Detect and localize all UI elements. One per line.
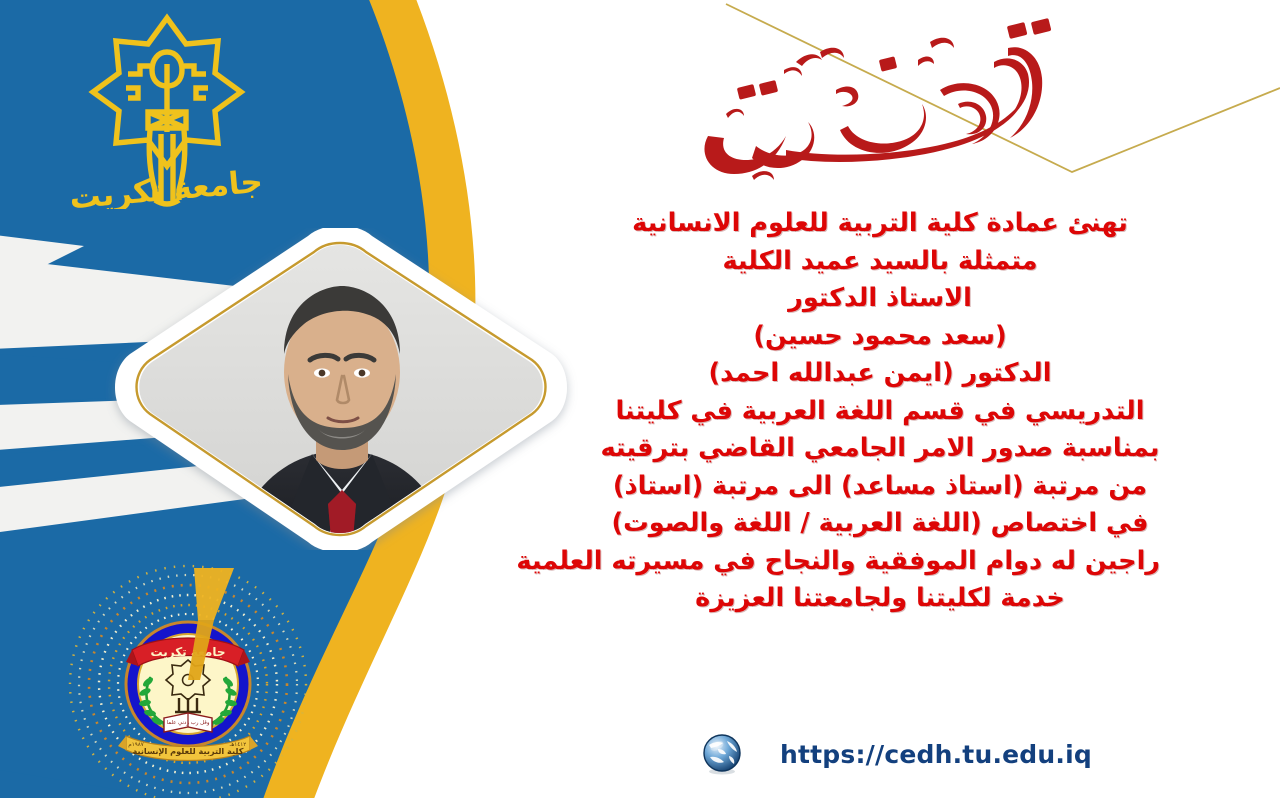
calligraphy-title <box>690 8 1090 188</box>
message-line: الاستاذ الدكتور <box>600 280 1160 318</box>
congratulation-message: تهنئ عمادة كلية التربية للعلوم الانسانية… <box>600 205 1160 618</box>
message-line: (سعد محمود حسين) <box>600 318 1160 356</box>
message-line: متمثلة بالسيد عميد الكلية <box>600 243 1160 281</box>
seal-bottom-banner: كلية التربية للعلوم الإنسانية <box>133 746 244 757</box>
college-of-education-seal: جامعة تكريت <box>48 562 328 798</box>
message-line: تهنئ عمادة كلية التربية للعلوم الانسانية <box>600 205 1160 243</box>
website-footer: https://cedh.tu.edu.iq <box>700 732 1092 776</box>
seal-year-left: ١٩٨٧م <box>128 742 144 748</box>
website-url[interactable]: https://cedh.tu.edu.iq <box>780 740 1092 769</box>
message-line: بمناسبة صدور الامر الجامعي القاضي بترقيت… <box>600 430 1160 468</box>
message-line: في اختصاص (اللغة العربية / اللغة والصوت) <box>600 505 1160 543</box>
portrait-photo <box>120 228 570 550</box>
seal-book-motto: وقل رب زدني علما <box>167 720 210 726</box>
seal-top-banner: جامعة تكريت <box>151 645 226 659</box>
university-logo-caption: جامعة تكريت <box>68 164 264 209</box>
message-line: الدكتور (ايمن عبدالله احمد) <box>600 355 1160 393</box>
globe-icon <box>700 732 744 776</box>
message-line: راجين له دوام الموفقية والنجاح في مسيرته… <box>600 543 1160 581</box>
tikrit-university-logo: جامعة تكريت <box>62 4 272 209</box>
seal-year-right: ١٤١٢هـ <box>229 741 247 748</box>
message-line: خدمة لكليتنا ولجامعتنا العزيزة <box>600 580 1160 618</box>
message-line: التدريسي في قسم اللغة العربية في كليتنا <box>600 393 1160 431</box>
honoree-portrait-frame <box>60 228 590 550</box>
message-line: من مرتبة (استاذ مساعد) الى مرتبة (استاذ) <box>600 468 1160 506</box>
seal-ribbon-strap <box>194 568 234 620</box>
congratulation-poster: جامعة تكريت <box>0 0 1280 798</box>
